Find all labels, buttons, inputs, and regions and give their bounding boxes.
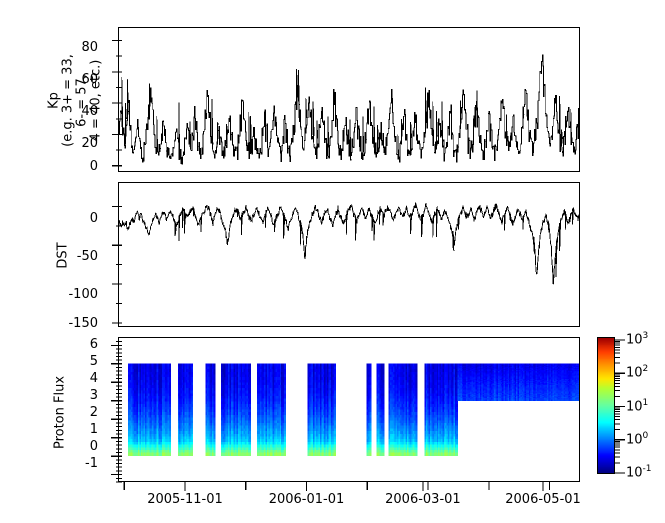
pf-ytick-0: 0 [62,439,98,454]
colorbar-tick-label-2: 101 [626,398,648,414]
pf-ytick-3: 3 [62,388,98,403]
colorbar-gradient [598,338,614,473]
kp-ytick-60: 60 [54,72,98,87]
x-tick-label-3: 2006-05-01 [488,492,598,507]
dst-ytick-0: 0 [50,211,98,226]
protonflux-plot-area [119,338,579,481]
pf-ytick-minus1: -1 [62,456,98,471]
pf-ytick-6: 6 [62,337,98,352]
x-tick-label-0: 2005-11-01 [130,492,240,507]
kp-y-ticks [108,27,122,173]
dst-ytick-minus100: -100 [50,287,98,302]
x-axis-ticks [118,482,581,492]
colorbar-tick-label-0: 10-1 [626,464,652,480]
dst-ytick-minus50: -50 [50,249,98,264]
x-tick-label-2: 2006-03-01 [368,492,478,507]
kp-plot-area [119,28,579,171]
protonflux-panel [118,337,580,482]
dst-plot-area [119,183,579,326]
pf-ytick-4: 4 [62,371,98,386]
protonflux-y-ticks [108,337,122,483]
x-tick-label-1: 2006-01-01 [251,492,361,507]
pf-ytick-2: 2 [62,405,98,420]
kp-ytick-0: 0 [54,159,98,174]
kp-ytick-40: 40 [54,104,98,119]
colorbar-ticks [614,337,626,475]
kp-ytick-20: 20 [54,136,98,151]
colorbar [597,337,615,474]
colorbar-tick-label-3: 102 [626,364,648,380]
kp-panel [118,27,580,172]
dst-panel [118,182,580,327]
dst-ytick-minus150: -150 [50,316,98,331]
space-weather-figure: Kp (e.g. 3+ = 33, 6- = 57, 4 = 40, etc.)… [0,0,665,523]
kp-ytick-80: 80 [54,40,98,55]
colorbar-tick-label-1: 100 [626,431,648,447]
colorbar-tick-label-4: 103 [626,331,648,347]
dst-y-ticks [108,182,122,328]
pf-ytick-5: 5 [62,354,98,369]
pf-ytick-1: 1 [62,422,98,437]
